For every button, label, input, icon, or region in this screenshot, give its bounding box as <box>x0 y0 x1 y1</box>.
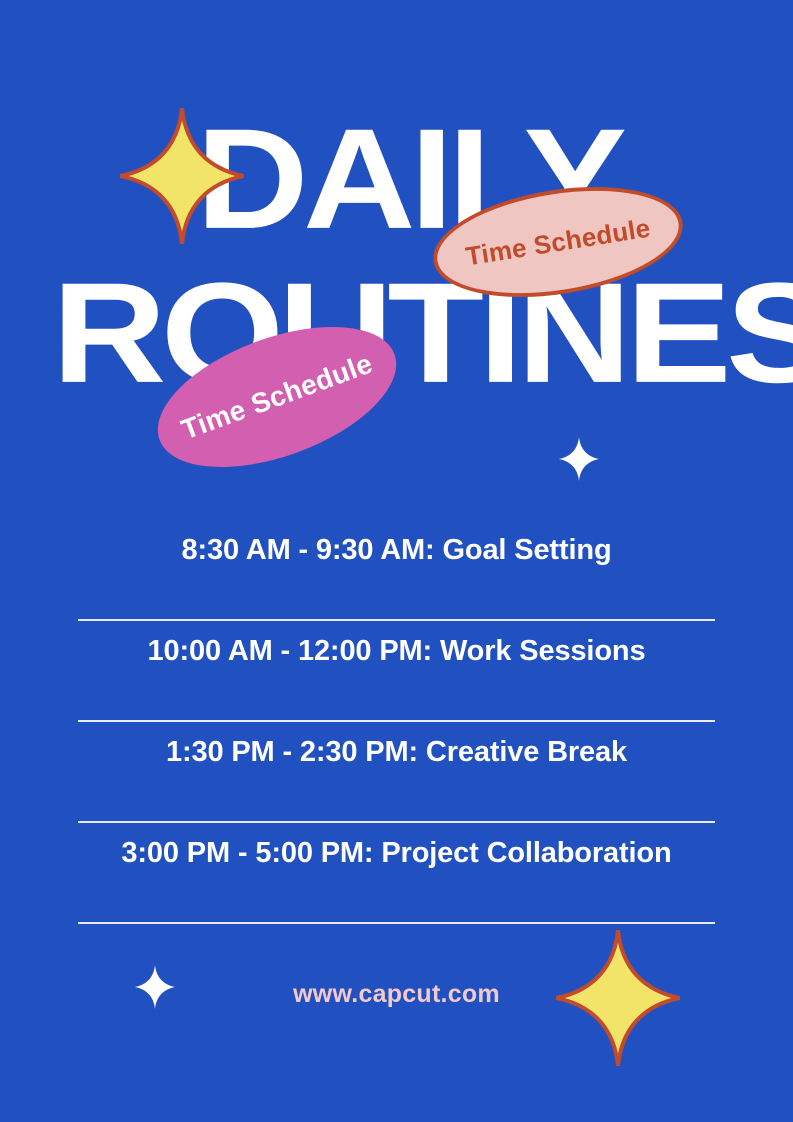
schedule-item-label: 8:30 AM - 9:30 AM: Goal Setting <box>78 534 715 567</box>
schedule-list: 8:30 AM - 9:30 AM: Goal Setting 10:00 AM… <box>78 520 715 924</box>
schedule-item-label: 3:00 PM - 5:00 PM: Project Collaboration <box>78 837 715 870</box>
schedule-item: 1:30 PM - 2:30 PM: Creative Break <box>78 722 715 823</box>
page-title-line-2: ROUTINES <box>52 262 793 405</box>
badge-label: Time Schedule <box>464 215 652 270</box>
schedule-item-label: 1:30 PM - 2:30 PM: Creative Break <box>78 736 715 769</box>
schedule-divider <box>78 922 715 924</box>
schedule-item: 10:00 AM - 12:00 PM: Work Sessions <box>78 621 715 722</box>
schedule-item-label: 10:00 AM - 12:00 PM: Work Sessions <box>78 635 715 668</box>
poster-canvas: DAILY ROUTINES Time Schedule Time Schedu… <box>0 0 793 1122</box>
footer-url[interactable]: www.capcut.com <box>0 980 793 1009</box>
schedule-item: 8:30 AM - 9:30 AM: Goal Setting <box>78 520 715 621</box>
schedule-item: 3:00 PM - 5:00 PM: Project Collaboration <box>78 823 715 924</box>
